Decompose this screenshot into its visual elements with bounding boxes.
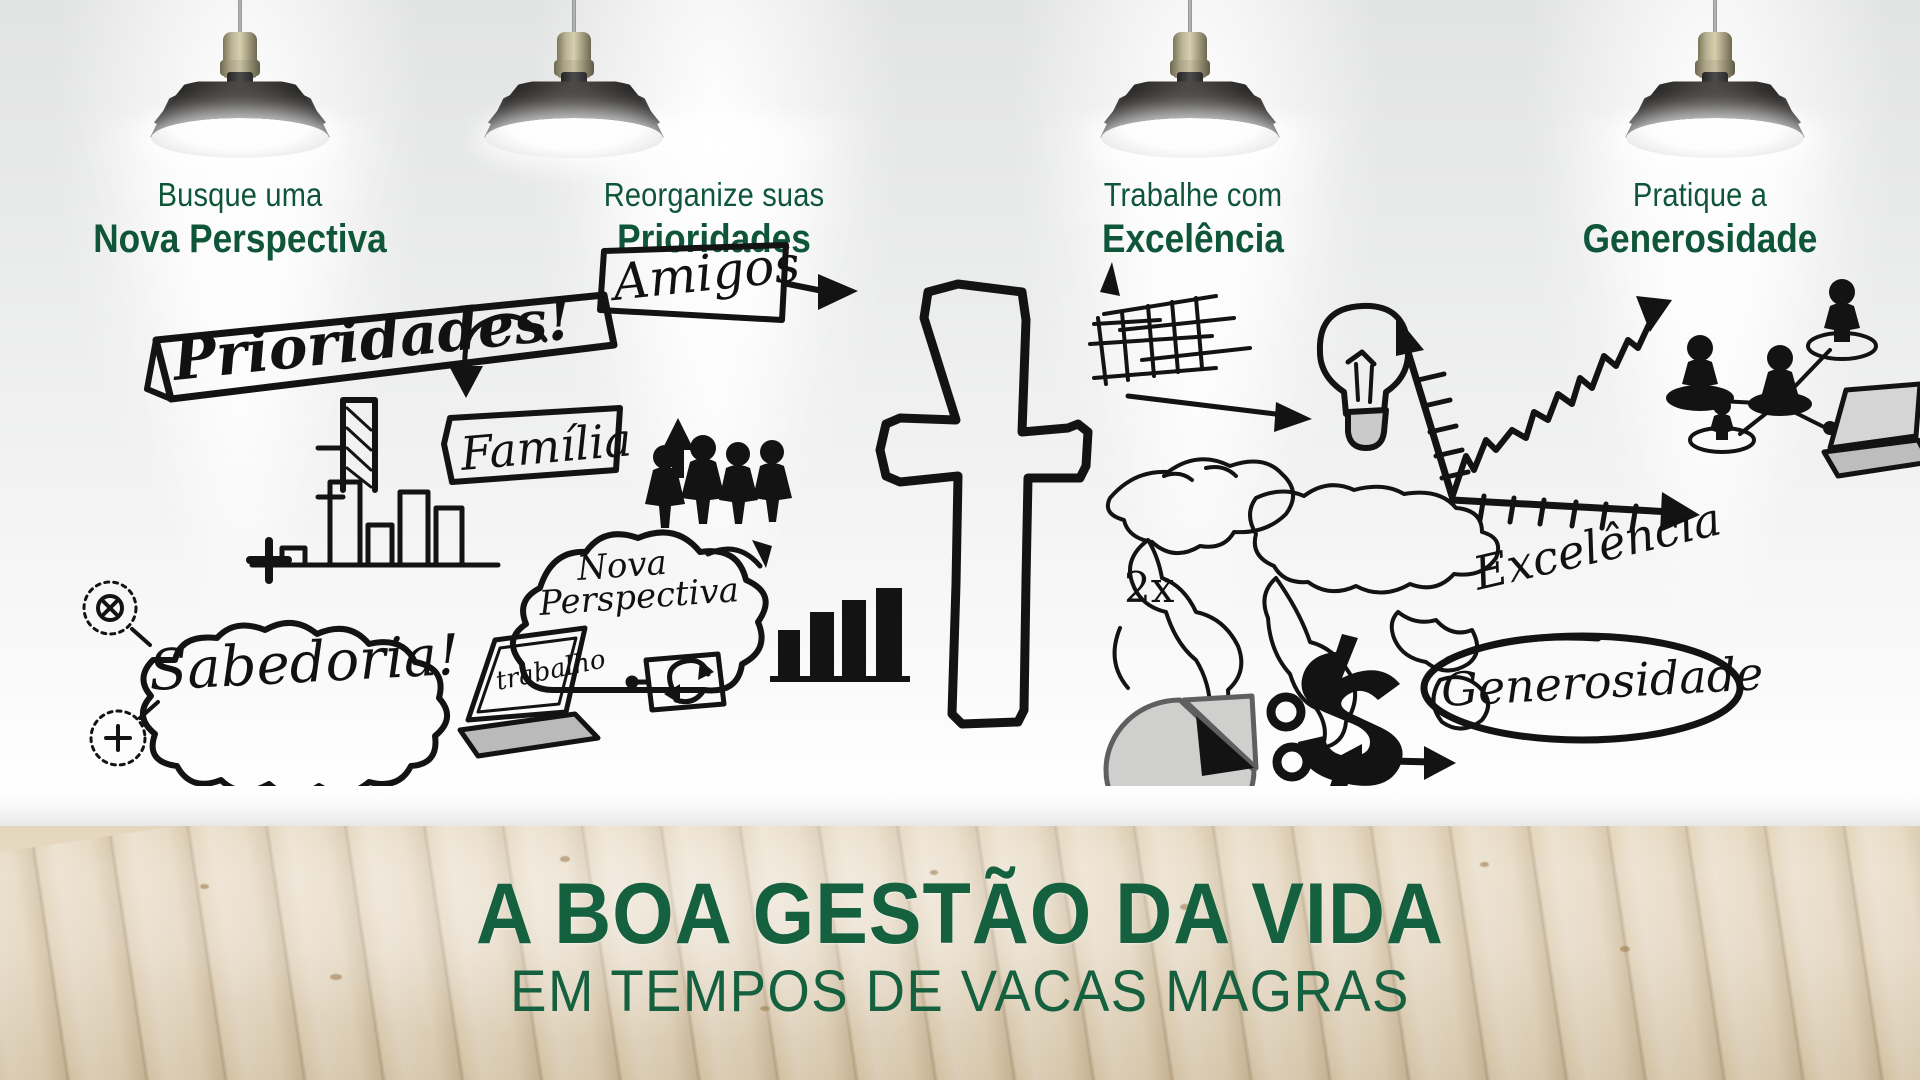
double-arrow xyxy=(1352,760,1432,762)
doodle-illustrations: Prioridades! Sabedoria! Amigos Família N… xyxy=(0,0,1920,800)
label-generosidade: Generosidade xyxy=(1440,646,1765,717)
label-sabedoria: Sabedoria! xyxy=(147,623,461,704)
excelencia-trend-line xyxy=(1452,318,1652,498)
refresh-icon xyxy=(628,654,724,710)
arrowhead-1 xyxy=(818,274,858,310)
cross-symbol xyxy=(880,284,1088,724)
dollar-symbol xyxy=(1298,634,1403,800)
stick-figure-family xyxy=(645,418,792,528)
tally-marks xyxy=(1090,296,1250,384)
percent-symbol xyxy=(1271,697,1307,777)
arrowhead-2 xyxy=(449,366,483,398)
arrowhead-y xyxy=(1396,316,1424,356)
baseboard xyxy=(0,786,1920,830)
arrowhead-tally xyxy=(1100,262,1120,296)
filled-bar-chart xyxy=(770,588,910,682)
poster-canvas: Busque uma Nova Perspectiva Reorganize s… xyxy=(0,0,1920,1080)
label-map-multiplier: 2x xyxy=(1124,563,1175,612)
map-multiplier-arc xyxy=(1115,628,1128,688)
arrowhead-trend xyxy=(1636,296,1672,332)
arrowhead-4 xyxy=(1274,402,1312,432)
excelencia-axes xyxy=(1408,352,1672,512)
label-amigos: Amigos xyxy=(606,235,802,313)
label-perspectiva: Perspectiva xyxy=(537,570,740,624)
people-network-doodle xyxy=(1666,279,1920,476)
page-subtitle: EM TEMPOS DE VACAS MAGRAS xyxy=(58,962,1863,1023)
doodle-layer: Prioridades! Sabedoria! Amigos Família N… xyxy=(0,0,1920,800)
lightbulb-icon xyxy=(1320,306,1408,448)
poster-title-block: A BOA GESTÃO DA VIDA EM TEMPOS DE VACAS … xyxy=(0,872,1920,1023)
pie-chart-doodle xyxy=(1106,696,1256,800)
page-title: A BOA GESTÃO DA VIDA xyxy=(77,872,1843,956)
arrow-to-lightbulb xyxy=(1128,396,1292,416)
